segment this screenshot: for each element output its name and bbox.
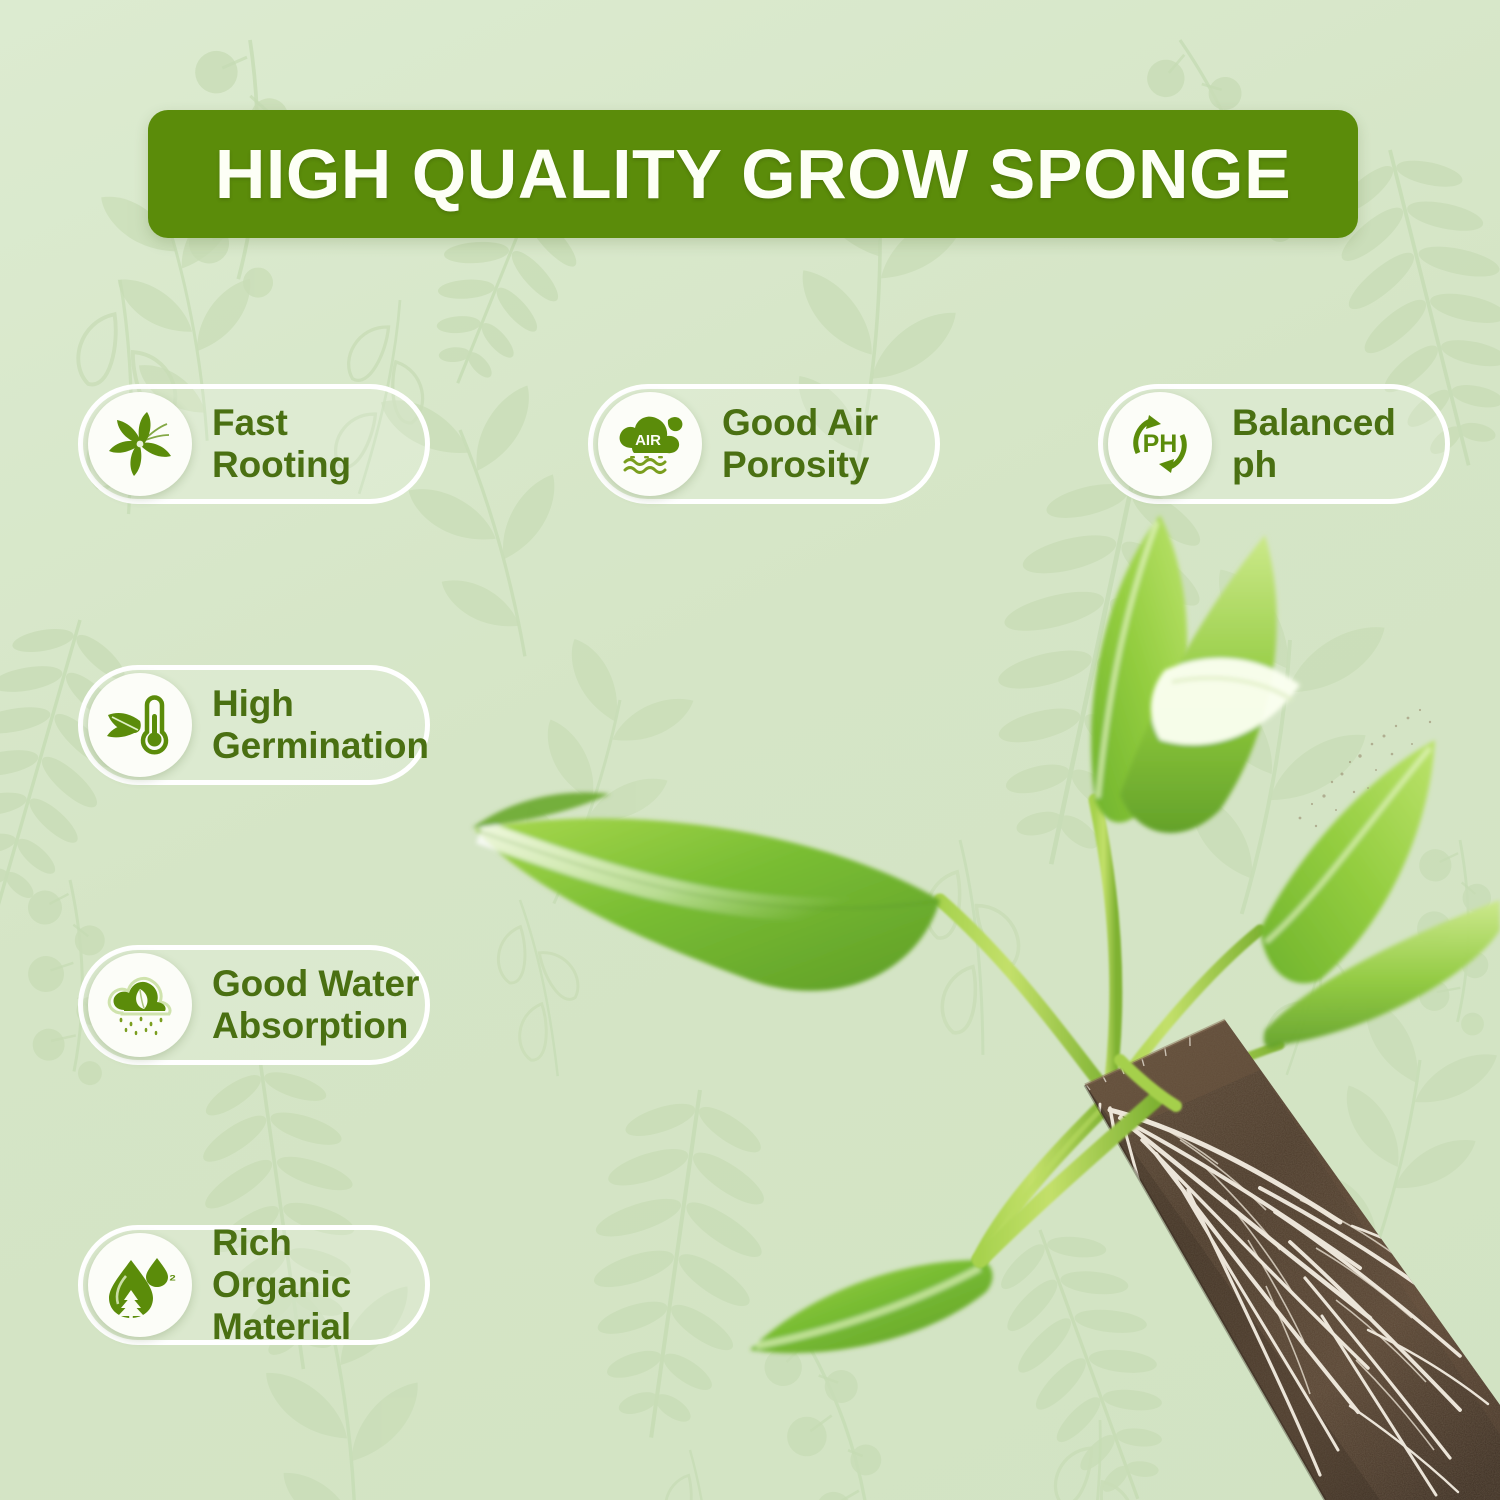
badge-balanced-ph: PH — [1108, 392, 1212, 496]
feature-label-air-porosity: Good Air Porosity — [722, 402, 878, 486]
feature-pill-water-absorption[interactable]: Good Water Absorption — [78, 945, 430, 1065]
badge-high-germination — [88, 673, 192, 777]
feature-label-balanced-ph: Balanced ph — [1232, 402, 1396, 486]
air-cloud-icon: AIR — [612, 406, 688, 482]
feature-label-organic-material: Rich Organic Material — [212, 1222, 425, 1349]
page-title-banner: HIGH QUALITY GROW SPONGE — [148, 110, 1358, 238]
soil-speck-artifacts — [1280, 700, 1460, 840]
feature-label-high-germination: High Germination — [212, 683, 429, 767]
water-cloud-leaf-icon — [102, 967, 178, 1043]
feature-pill-high-germination[interactable]: High Germination — [78, 665, 430, 785]
ph-cycle-icon: PH — [1123, 407, 1197, 481]
air-icon-text: AIR — [635, 432, 661, 449]
thermometer-leaf-icon — [102, 687, 178, 763]
badge-fast-rooting — [88, 392, 192, 496]
badge-water-absorption — [88, 953, 192, 1057]
feature-pill-fast-rooting[interactable]: Fast Rooting — [78, 384, 430, 504]
sprout-leaves-icon — [103, 407, 177, 481]
badge-air-porosity: AIR — [598, 392, 702, 496]
droplet-tree-o2-icon: ₂ — [101, 1246, 179, 1324]
page-title: HIGH QUALITY GROW SPONGE — [215, 139, 1291, 209]
product-photo-seedling-in-grow-sponge — [420, 500, 1500, 1500]
feature-pill-air-porosity[interactable]: AIR Good Air Porosity — [588, 384, 940, 504]
feature-label-water-absorption: Good Water Absorption — [212, 963, 419, 1047]
feature-pill-organic-material[interactable]: ₂ Rich Organic Material — [78, 1225, 430, 1345]
infographic-canvas: HIGH QUALITY GROW SPONGE Fast Rootin — [0, 0, 1500, 1500]
badge-organic-material: ₂ — [88, 1233, 192, 1337]
feature-pill-balanced-ph[interactable]: PH Balanced ph — [1098, 384, 1450, 504]
ph-icon-text: PH — [1143, 430, 1178, 458]
feature-label-fast-rooting: Fast Rooting — [212, 402, 351, 486]
o2-subscript-label: ₂ — [169, 1267, 176, 1284]
